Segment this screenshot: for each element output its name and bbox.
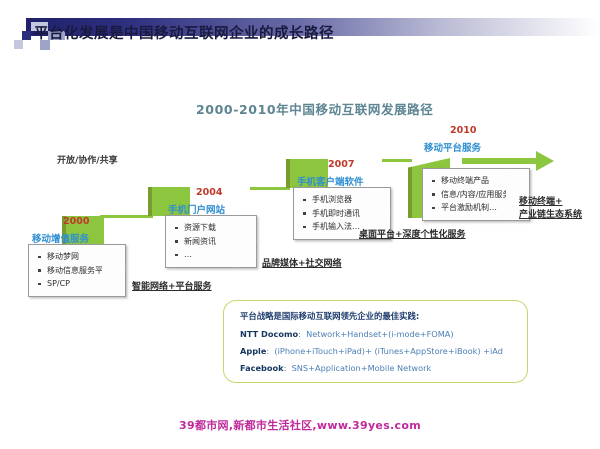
growth-arrow-head [536,151,554,171]
outcome-line: 品牌媒体+社交网络 [262,258,342,271]
outcome-line: 智能网络+平台服务 [132,281,212,294]
practice-detail: (iPhone+iTouch+iPad)+ (iTunes+AppStore+i… [274,346,503,356]
stage-box-2010: 移动终端产品 信息/内容/应用服务 平台激励机制… [422,168,530,221]
practice-sep: : [298,329,301,339]
stage-box-2004: 资源下载 新闻资讯 … [165,215,257,268]
stage-name-2010: 移动平台服务 [424,140,481,154]
practice-sep: : [266,346,269,356]
stage-year-2007: 2007 [328,159,354,170]
stage-name-2004: 手机门户网站 [168,202,225,216]
outcome-label-2007: 桌面平台+深度个性化服务 [359,229,466,242]
stage-box-2000: 移动梦网 移动信息服务平台 SP/CP [28,244,126,297]
header-square-light-2 [14,40,23,49]
practice-company: Facebook [240,363,284,373]
outcome-line: 产业链生态系统 [519,209,582,222]
chart-title: 2000-2010年中国移动互联网发展路径 [196,99,433,118]
concept-note: 开放/协作/共享 [57,153,118,166]
outcome-label-2004: 品牌媒体+社交网络 [262,258,342,271]
practice-row: NTT Docomo: Network+Handset+(i-mode+FOMA… [240,329,454,339]
header-square-navy-1 [22,31,31,40]
practice-company: Apple [240,346,266,356]
outcome-line: 桌面平台+深度个性化服务 [359,229,466,242]
page-title: 平台化发展是中国移动互联网企业的成长路径 [34,22,334,43]
best-practice-box: 平台战略是国际移动互联网领先企业的最佳实践: NTT Docomo: Netwo… [223,300,528,383]
stair-tread-2 [250,187,290,190]
outcome-label-2010: 移动终端+ 产业链生态系统 [519,196,582,221]
stage-year-2004: 2004 [196,187,222,198]
stair-tread-1 [100,215,153,218]
practice-sep: : [284,363,287,373]
outcome-line: 移动终端+ [519,196,582,209]
practice-detail: Network+Handset+(i-mode+FOMA) [306,329,454,339]
best-practice-heading: 平台战略是国际移动互联网领先企业的最佳实践: [240,310,419,322]
stage-name-2007: 手机客户端软件 [297,174,364,188]
practice-company: NTT Docomo [240,329,298,339]
stair-tread-3 [382,159,412,162]
footer-credit: 39都市网,新都市生活社区,www.39yes.com [0,417,600,433]
slide-header: 平台化发展是中国移动互联网企业的成长路径 [0,0,600,56]
practice-row: Facebook: SNS+Application+Mobile Network [240,363,431,373]
practice-detail: SNS+Application+Mobile Network [292,363,432,373]
growth-arrow-shaft [462,158,540,164]
outcome-label-2000: 智能网络+平台服务 [132,281,212,294]
practice-row: Apple: (iPhone+iTouch+iPad)+ (iTunes+App… [240,346,503,356]
stage-year-2000: 2000 [63,216,89,227]
stage-year-2010: 2010 [450,125,476,136]
stage-name-2000: 移动增值服务 [32,231,89,245]
